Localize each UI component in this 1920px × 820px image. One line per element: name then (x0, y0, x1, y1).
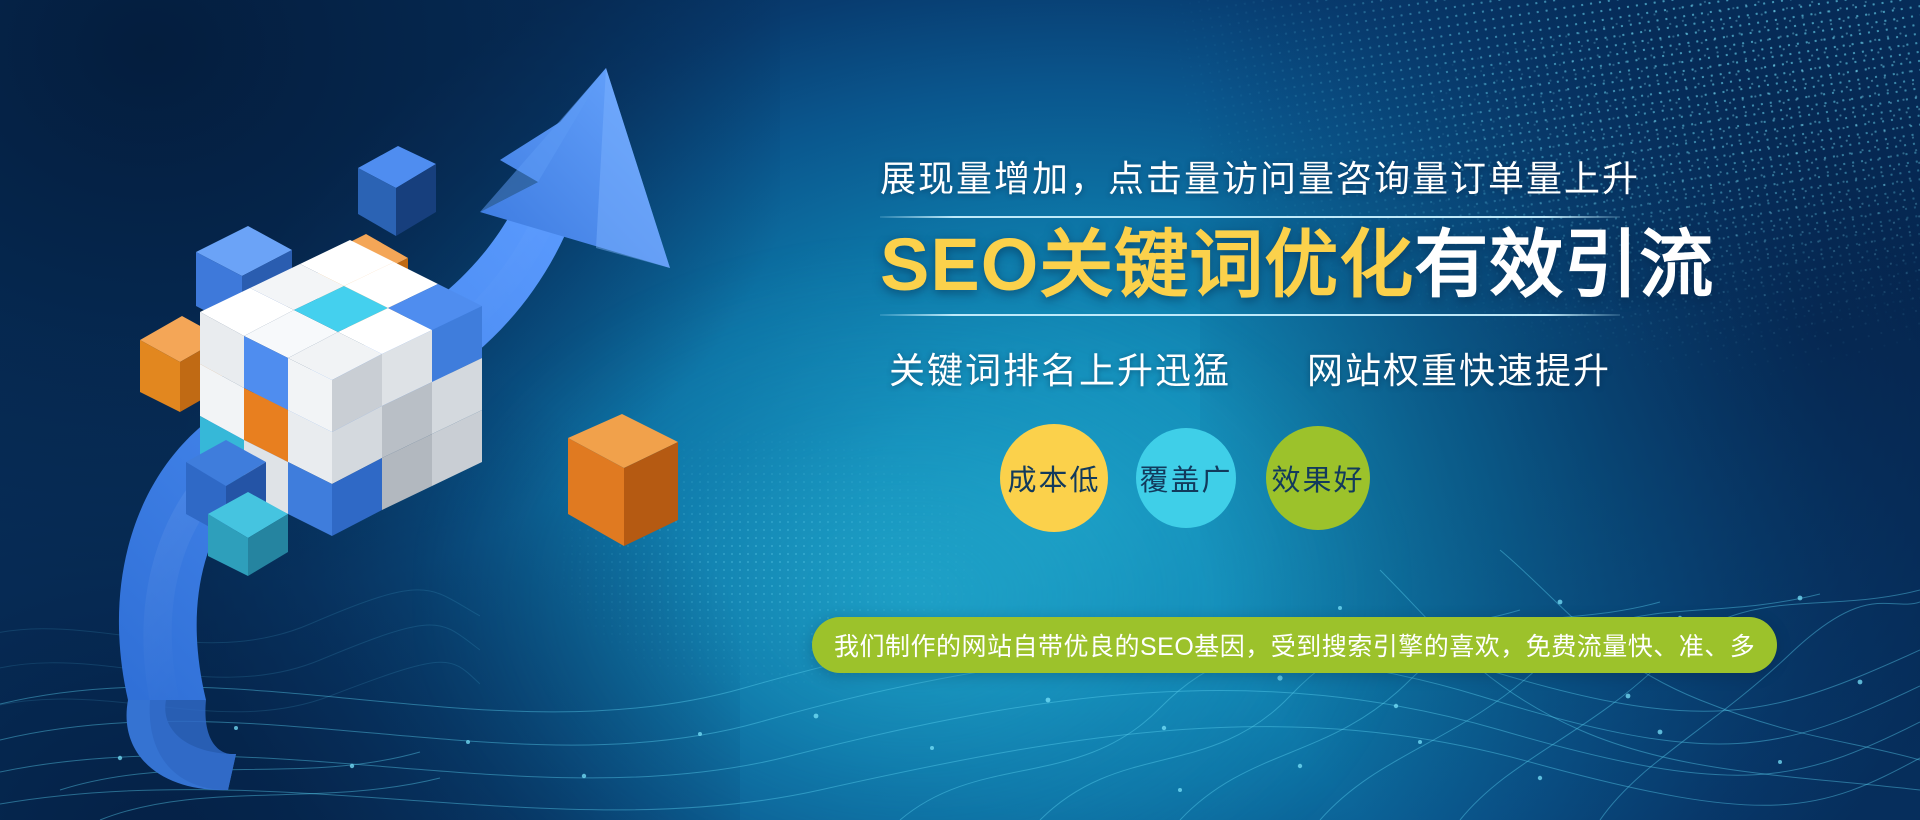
page-title: SEO关键词优化有效引流 (880, 226, 1620, 304)
footer-bar-text: 我们制作的网站自带优良的SEO基因，受到搜索引擎的喜欢，免费流量快、准、多 (834, 627, 1755, 663)
status-badge: 成本低 (1000, 424, 1108, 532)
footer-bar: 我们制作的网站自带优良的SEO基因，受到搜索引擎的喜欢，免费流量快、准、多 (812, 617, 1777, 673)
status-badge: 效果好 (1266, 426, 1370, 530)
seo-banner: 展现量增加，点击量访问量咨询量订单量上升 SEO关键词优化有效引流 关键词排名上… (0, 0, 1920, 820)
divider-bottom (880, 314, 1620, 316)
badge-label: 效果好 (1271, 457, 1364, 499)
arrow-and-cubes-graphic (0, 0, 820, 820)
headline-white: 有效引流 (1414, 223, 1714, 306)
subline: 关键词排名上升迅猛 网站权重快速提升 (880, 342, 1620, 394)
divider-top (880, 216, 1620, 218)
badge-label: 覆盖广 (1139, 457, 1232, 499)
headline-gold: SEO关键词优化 (880, 223, 1414, 306)
floating-orange-cube-icon (568, 414, 678, 546)
floating-dark-blue-cube-icon (358, 146, 436, 236)
status-badge: 覆盖广 (1136, 428, 1236, 528)
headline-block: 展现量增加，点击量访问量咨询量订单量上升 SEO关键词优化有效引流 关键词排名上… (880, 150, 1620, 394)
tagline: 展现量增加，点击量访问量咨询量订单量上升 (880, 150, 1620, 202)
badge-label: 成本低 (1007, 457, 1100, 499)
benefit-badges: 成本低 覆盖广 效果好 (1000, 424, 1370, 532)
